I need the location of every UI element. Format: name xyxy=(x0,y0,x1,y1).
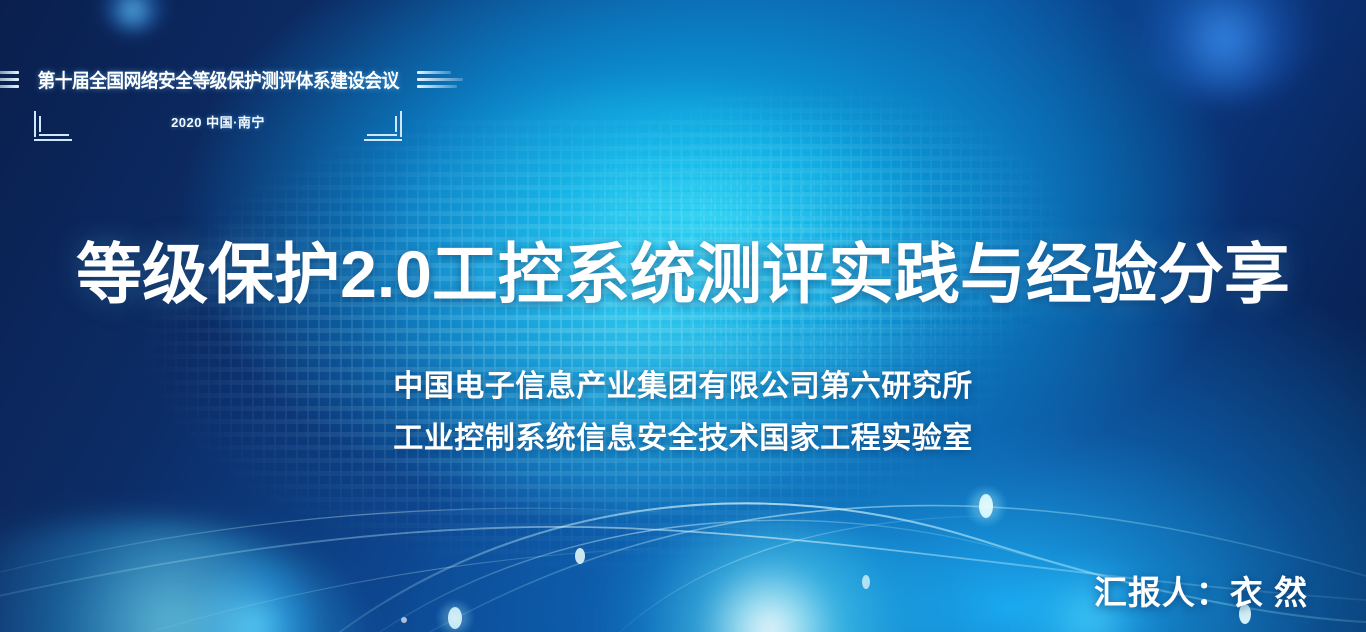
event-year-location: 2020 中国·南宁 xyxy=(171,112,265,131)
organization-block: 中国电子信息产业集团有限公司第六研究所 工业控制系统信息安全技术国家工程实验室 xyxy=(0,372,1366,454)
event-logo-title: 第十届全国网络安全等级保护测评体系建设会议 xyxy=(33,66,404,93)
presenter-label: 汇报人：衣 然 xyxy=(1094,566,1308,614)
bracket-left-icon xyxy=(30,111,72,141)
slide-title: 等级保护2.0工控系统测评实践与经验分享 xyxy=(0,238,1366,312)
logo-bars-left-icon xyxy=(0,71,19,88)
event-logo-title-row: 第十届全国网络安全等级保护测评体系建设会议 xyxy=(28,62,408,96)
event-logo-subtitle-row: 2020 中国·南宁 xyxy=(28,101,408,141)
bracket-right-icon xyxy=(364,111,406,141)
logo-bars-right-icon xyxy=(417,71,467,88)
title-slide: 第十届全国网络安全等级保护测评体系建设会议 2020 中国·南宁 等级保护2.0… xyxy=(0,0,1366,632)
organization-line-1: 中国电子信息产业集团有限公司第六研究所 xyxy=(0,372,1366,402)
event-logo: 第十届全国网络安全等级保护测评体系建设会议 2020 中国·南宁 xyxy=(28,62,408,152)
organization-line-2: 工业控制系统信息安全技术国家工程实验室 xyxy=(0,424,1366,454)
